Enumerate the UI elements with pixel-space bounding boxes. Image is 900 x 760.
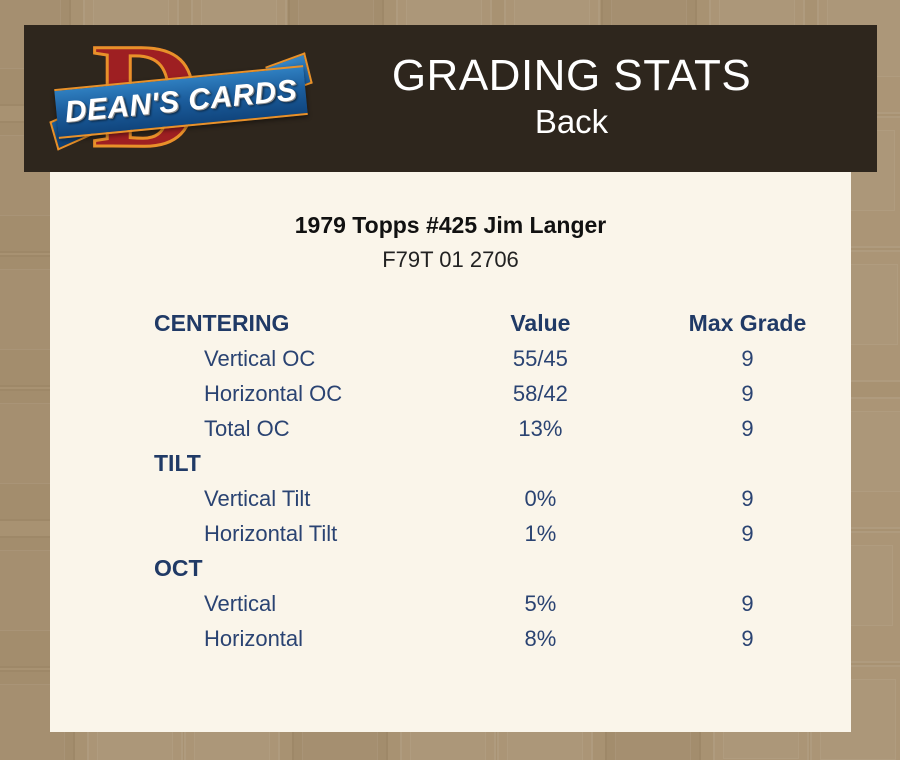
row-max-grade: 9 — [644, 341, 851, 376]
grading-stats-table: CENTERINGValueMax GradeVertical OC55/459… — [50, 306, 851, 656]
page-title: GRADING STATS — [306, 53, 837, 99]
row-label: Total OC — [50, 411, 437, 446]
page-subtitle: Back — [306, 101, 837, 144]
row-value: 13% — [437, 411, 644, 446]
row-label: Vertical Tilt — [50, 481, 437, 516]
row-max-grade: 9 — [644, 411, 851, 446]
row-max-grade: 9 — [644, 481, 851, 516]
header-bar: D DEAN'S CARDS GRADING STATS Back — [24, 25, 877, 172]
row-max-grade: 9 — [644, 586, 851, 621]
section-header-row: TILT — [50, 446, 851, 481]
section-header-centering: CENTERING — [50, 306, 437, 341]
section-header-tilt: TILT — [50, 446, 437, 481]
row-value: 0% — [437, 481, 644, 516]
header-titles: GRADING STATS Back — [306, 53, 877, 144]
content-panel: 1979 Topps #425 Jim Langer F79T 01 2706 … — [50, 172, 851, 732]
table-row: Vertical OC55/459 — [50, 341, 851, 376]
table-row: Total OC13%9 — [50, 411, 851, 446]
card-title: 1979 Topps #425 Jim Langer — [50, 212, 851, 239]
row-max-grade: 9 — [644, 516, 851, 551]
row-value: 58/42 — [437, 376, 644, 411]
grading-stats-body: CENTERINGValueMax GradeVertical OC55/459… — [50, 306, 851, 656]
column-header-max-grade: Max Grade — [644, 306, 851, 341]
table-row: Horizontal Tilt1%9 — [50, 516, 851, 551]
row-value: 8% — [437, 621, 644, 656]
row-value: 55/45 — [437, 341, 644, 376]
page-root: D DEAN'S CARDS GRADING STATS Back 1979 T… — [0, 0, 900, 760]
deans-cards-logo: D DEAN'S CARDS — [56, 29, 306, 169]
row-label: Horizontal OC — [50, 376, 437, 411]
row-max-grade: 9 — [644, 376, 851, 411]
section-spacer-grade — [644, 446, 851, 481]
row-value: 1% — [437, 516, 644, 551]
section-spacer-value — [437, 446, 644, 481]
row-label: Vertical OC — [50, 341, 437, 376]
table-row: Horizontal8%9 — [50, 621, 851, 656]
section-spacer-value — [437, 551, 644, 586]
row-label: Vertical — [50, 586, 437, 621]
table-row: Horizontal OC58/429 — [50, 376, 851, 411]
row-label: Horizontal — [50, 621, 437, 656]
row-value: 5% — [437, 586, 644, 621]
column-header-value: Value — [437, 306, 644, 341]
table-row: Vertical5%9 — [50, 586, 851, 621]
row-label: Horizontal Tilt — [50, 516, 437, 551]
section-spacer-grade — [644, 551, 851, 586]
section-header-row: OCT — [50, 551, 851, 586]
card-serial: F79T 01 2706 — [50, 247, 851, 273]
section-header-row: CENTERINGValueMax Grade — [50, 306, 851, 341]
row-max-grade: 9 — [644, 621, 851, 656]
section-header-oct: OCT — [50, 551, 437, 586]
table-row: Vertical Tilt0%9 — [50, 481, 851, 516]
